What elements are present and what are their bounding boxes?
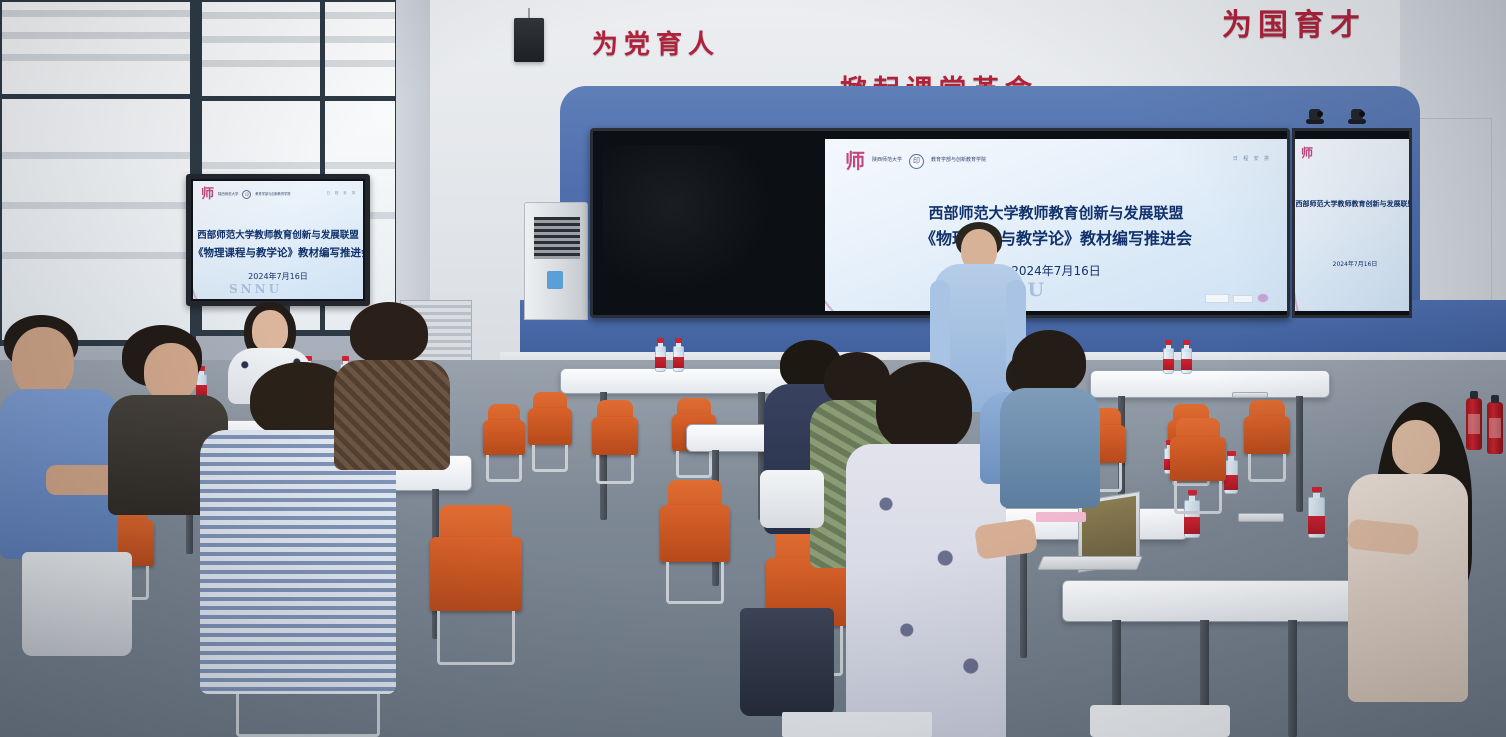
wall-slogan-left: 为党育人 <box>592 24 720 61</box>
table-leg <box>1288 620 1297 737</box>
phone-device[interactable] <box>1238 513 1284 522</box>
backpack <box>740 608 834 716</box>
chair[interactable] <box>1244 400 1290 482</box>
water-bottle <box>1224 450 1238 494</box>
college-seal-icon: 印 <box>242 190 251 199</box>
slide-title-line1: 西部师范大学教师教育创新与发展联盟 <box>193 227 363 241</box>
wall-slogan-right: 为国育才 <box>1222 0 1366 44</box>
chair[interactable] <box>528 392 572 472</box>
fire-extinguisher <box>1487 402 1503 454</box>
university-logo-mark: 师 <box>201 188 214 201</box>
table <box>1062 580 1392 622</box>
person-attendee-brown <box>334 302 450 462</box>
paper-sheet <box>1036 512 1086 522</box>
water-bottle <box>673 338 684 372</box>
university-logo-name: 陕西师范大学 <box>218 193 238 197</box>
chair[interactable] <box>660 480 730 604</box>
person-attendee-right-pink <box>1348 402 1476 702</box>
slide-title-line2: 《物理课程与教学论》教材编写推进会 <box>825 225 1287 249</box>
water-bottle <box>1308 484 1325 538</box>
window <box>0 0 196 346</box>
water-bottle <box>1163 340 1174 374</box>
college-logo-name: 教育学部与创新教育学院 <box>255 193 290 197</box>
slide-right: 师 西部师范大学教师教育创新与发展联盟 2024年7月16日 <box>1295 139 1412 311</box>
slide-date: 2024年7月16日 <box>825 262 1287 279</box>
person-attendee-teal <box>1000 330 1100 500</box>
university-logo-name: 陕西师范大学 <box>872 158 902 164</box>
chair[interactable] <box>1170 418 1226 514</box>
slide-watermark: SNNU <box>229 282 282 296</box>
air-conditioner <box>524 202 588 320</box>
table-leg <box>1296 396 1303 512</box>
tablet-device[interactable] <box>1232 392 1268 398</box>
university-logo-mark: 师 <box>1301 147 1313 159</box>
table <box>1090 370 1330 398</box>
chair[interactable] <box>592 400 638 484</box>
college-logo-name: 教育学部与创新教育学院 <box>931 158 986 164</box>
tote-bag <box>22 552 132 656</box>
wall-panel-outline <box>1418 118 1492 328</box>
white-bag <box>760 470 824 528</box>
table-edge-foreground <box>782 712 932 737</box>
slide-main: 师 陕西师范大学 印 教育学部与创新教育学院 日 程 安 排 西部师范大学教师教… <box>825 139 1287 311</box>
paper-sheet <box>1090 705 1230 737</box>
university-logo-mark: 师 <box>845 151 865 171</box>
laptop-keyboard[interactable] <box>1037 556 1143 570</box>
water-bottle <box>1181 340 1192 374</box>
slide-corner-text: 日 程 安 排 <box>327 190 357 195</box>
table-leg <box>1020 538 1027 658</box>
slide-title-line2: 《物理课程与教学论》教材编写推进会 <box>193 245 363 260</box>
ptz-camera-icon <box>1306 108 1324 124</box>
slide-title-line1: 西部师范大学教师教育创新与发展联盟 <box>825 202 1287 223</box>
classroom-photo: 为党育人 掀起课堂革命 为国育才 师 陕西师 <box>0 0 1506 737</box>
slide-date: 2024年7月16日 <box>1295 259 1412 268</box>
college-seal-icon: 印 <box>909 154 924 169</box>
slide-corner-text: 日 程 安 排 <box>1233 155 1271 162</box>
chair[interactable] <box>483 404 525 482</box>
ptz-camera-icon <box>1348 108 1366 124</box>
chair[interactable] <box>430 505 522 665</box>
slide-left: 师 陕西师范大学 印 教育学部与创新教育学院 日 程 安 排 西部师范大学教师教… <box>193 181 363 299</box>
wall-speaker <box>514 18 544 62</box>
person-attendee-left-blue <box>0 315 120 555</box>
side-monitor[interactable]: 师 陕西师范大学 印 教育学部与创新教育学院 日 程 安 排 西部师范大学教师教… <box>186 174 370 306</box>
water-bottle <box>655 338 666 372</box>
secondary-display[interactable]: 师 西部师范大学教师教育创新与发展联盟 2024年7月16日 <box>1292 128 1412 318</box>
slide-title-line1: 西部师范大学教师教育创新与发展联盟 <box>1295 199 1412 209</box>
slide-date: 2024年7月16日 <box>193 271 363 282</box>
